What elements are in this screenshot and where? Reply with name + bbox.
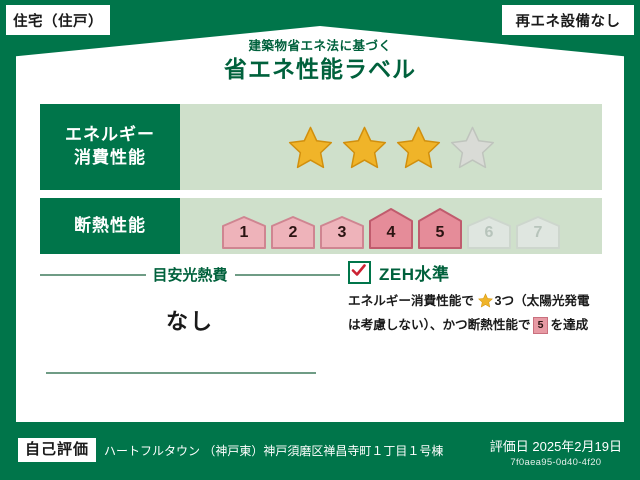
energy-performance-label: エネルギー 消費性能 — [40, 104, 180, 190]
insulation-level-7: 7 — [515, 215, 561, 249]
zeh-title: ZEH水準 — [379, 260, 450, 285]
building-type-tag: 住宅（住戸） — [6, 5, 110, 35]
renewable-equipment-tag: 再エネ設備なし — [502, 5, 634, 35]
evaluation-id: 7f0aea95-0d40-4f20 — [490, 457, 622, 468]
insulation-performance-value: 1234567 — [180, 198, 602, 254]
insulation-level-number: 1 — [221, 224, 267, 242]
rule-left — [40, 274, 146, 276]
insulation-level-number: 4 — [368, 224, 414, 242]
label-body: エネルギー 消費性能 断熱性能 1234567 目安光熱費 なし — [16, 92, 624, 422]
zeh-desc-part2: 3つ（太陽光発電 — [494, 294, 589, 308]
insulation-level-4: 4 — [368, 207, 414, 249]
energy-performance-row: エネルギー 消費性能 — [40, 104, 602, 190]
utility-cost-header: 目安光熱費 — [40, 264, 340, 285]
insulation-level-number: 3 — [319, 224, 365, 242]
energy-performance-value — [180, 104, 602, 190]
utility-cost-title: 目安光熱費 — [153, 264, 228, 285]
star-icon-inline — [475, 297, 494, 311]
energy-label-line2: 消費性能 — [74, 147, 146, 170]
zeh-block: ZEH水準 エネルギー消費性能で 3つ（太陽光発電 は考慮しない）、かつ断熱性能… — [348, 260, 610, 336]
insulation-level-6: 6 — [466, 215, 512, 249]
insulation-level-number: 6 — [466, 224, 512, 242]
insulation-level-number: 5 — [417, 224, 463, 242]
insulation-level-1: 1 — [221, 215, 267, 249]
footer: 自己評価 ハートフルタウン （神戸東）神戸須磨区禅昌寺町１丁目１号棟 評価日 2… — [0, 430, 640, 480]
star-rating — [287, 125, 496, 170]
insulation-level-3: 3 — [319, 215, 365, 249]
evaluation-type-badge: 自己評価 — [18, 438, 96, 462]
evaluation-date: 評価日 2025年2月19日 — [490, 436, 622, 455]
zeh-description: エネルギー消費性能で 3つ（太陽光発電 は考慮しない）、かつ断熱性能で5を達成 — [348, 291, 610, 336]
star-icon-filled — [341, 125, 388, 170]
zeh-desc-part1: エネルギー消費性能で — [348, 294, 474, 308]
zeh-desc-part3: は考慮しない）、かつ断熱性能で — [348, 318, 531, 332]
star-icon-filled — [287, 125, 334, 170]
insulation-level-2: 2 — [270, 215, 316, 249]
star-icon-empty — [449, 125, 496, 170]
energy-label-root: 建築物省エネ法に基づく 省エネ性能ラベル 住宅（住戸） 再エネ設備なし エネルギ… — [0, 0, 640, 480]
insulation-scale: 1234567 — [221, 203, 561, 249]
insulation-performance-row: 断熱性能 1234567 — [40, 198, 602, 254]
utility-cost-value: なし — [40, 304, 340, 336]
zeh-desc-part4: を達成 — [550, 318, 588, 332]
property-name: ハートフルタウン （神戸東）神戸須磨区禅昌寺町１丁目１号棟 — [104, 442, 443, 459]
energy-label-line1: エネルギー — [65, 124, 155, 147]
insulation-level-number: 2 — [270, 224, 316, 242]
star-icon-filled — [395, 125, 442, 170]
rule-right — [235, 274, 341, 276]
check-icon — [348, 261, 371, 284]
footer-left: 自己評価 ハートフルタウン （神戸東）神戸須磨区禅昌寺町１丁目１号棟 — [18, 438, 443, 462]
utility-cost-underline — [46, 372, 316, 374]
insulation-level-number: 7 — [515, 224, 561, 242]
roof-shape — [16, 26, 624, 98]
insulation-level-5: 5 — [417, 207, 463, 249]
footer-right: 評価日 2025年2月19日 7f0aea95-0d40-4f20 — [490, 436, 622, 468]
insulation-performance-label: 断熱性能 — [40, 198, 180, 254]
zeh-header: ZEH水準 — [348, 260, 610, 285]
insulation-chip: 5 — [533, 317, 549, 335]
insulation-label-text: 断熱性能 — [74, 215, 146, 238]
